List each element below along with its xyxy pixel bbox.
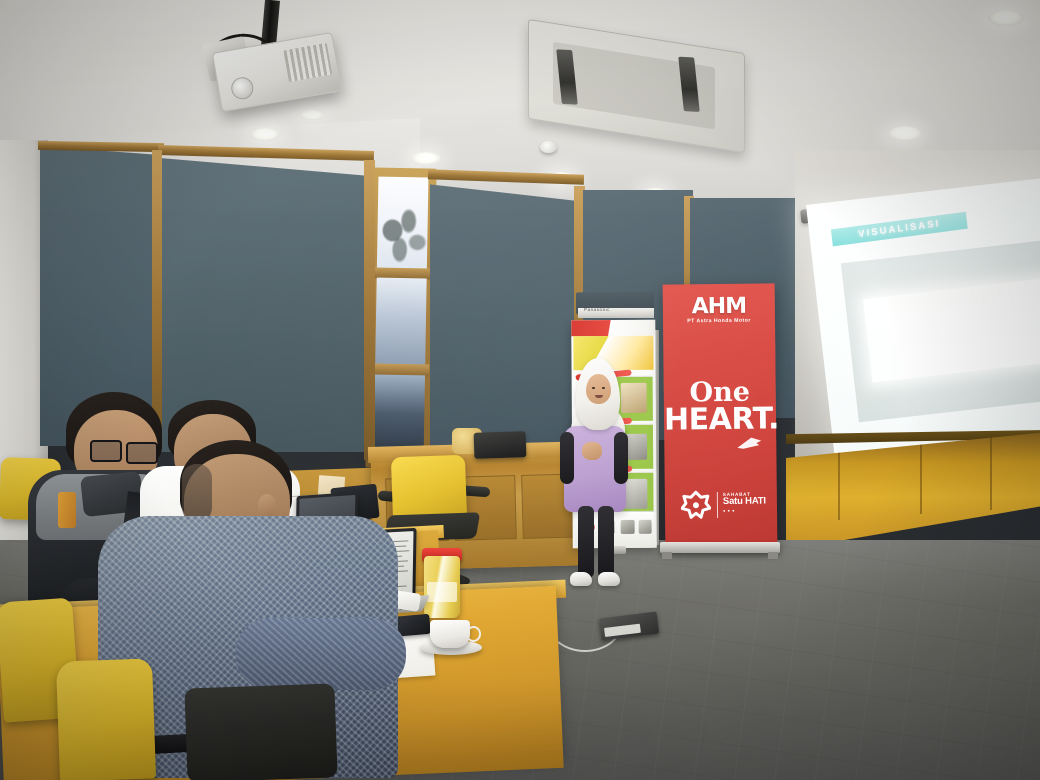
- hair-fade: [182, 464, 212, 522]
- wainscot-seam: [920, 436, 922, 514]
- wainscot-seam: [990, 432, 992, 510]
- presenter-sleeve: [560, 432, 574, 484]
- wood-trim: [364, 160, 375, 460]
- poster-header: [571, 320, 655, 337]
- banner-foot: [662, 552, 672, 559]
- poster-footer-icon: [639, 520, 652, 534]
- ceiling-downlight: [888, 126, 922, 141]
- coffee-cup: [430, 620, 470, 648]
- ceiling-downlight: [250, 128, 280, 141]
- smoke-detector: [540, 141, 557, 153]
- ahm-subtitle: PT Astra Honda Motor: [663, 317, 775, 324]
- satu-hati-text: SAHABAT Satu HATI ● ● ●: [723, 491, 775, 513]
- ceiling-downlight: [988, 10, 1024, 26]
- mouth: [595, 395, 603, 398]
- presenter-leg: [578, 506, 594, 578]
- ahm-rollup-banner: AHM PT Astra Honda Motor One HEART. SAHA…: [663, 283, 778, 546]
- presenter-hands: [582, 442, 602, 460]
- projector-vent-grill: [283, 43, 332, 82]
- presenter-sleeve: [614, 432, 628, 484]
- eye: [592, 387, 595, 389]
- satu-hati-dots: ● ● ●: [723, 507, 775, 513]
- wainscot-seam: [838, 442, 840, 520]
- presenter-face: [586, 374, 611, 404]
- banner-tagline-heart: HEART.: [664, 405, 776, 435]
- slide-content-frame: [841, 240, 1040, 423]
- eye: [602, 387, 605, 389]
- floor-socket-lid: [604, 624, 641, 637]
- slide-content-body: [863, 277, 1040, 383]
- ceiling-downlight: [300, 110, 324, 120]
- banner-foot: [768, 552, 778, 559]
- cup-handle: [466, 626, 481, 642]
- presenter-shoe: [598, 572, 620, 586]
- chair-seat[interactable]: [184, 683, 337, 780]
- snack-jar: [424, 556, 460, 618]
- projector-lens: [230, 76, 255, 101]
- window-pane-middle: [375, 278, 427, 367]
- window-pane-top: [377, 177, 429, 270]
- meeting-room-photo: VISUALISASI Panasonic: [0, 0, 1040, 780]
- presenter: [552, 358, 638, 590]
- jar-label: [427, 582, 457, 602]
- panasonic-label: Panasonic: [584, 307, 610, 312]
- bottle: [58, 492, 76, 528]
- ceiling-downlight: [411, 152, 441, 165]
- ear: [258, 494, 276, 518]
- satu-hati-logo-icon: [681, 490, 711, 520]
- honda-wing-icon: [736, 436, 762, 450]
- equipment-case: [474, 431, 527, 459]
- presenter-leg: [598, 506, 614, 578]
- window: [365, 167, 436, 468]
- banner-base: [660, 542, 780, 553]
- projection-screen: VISUALISASI: [806, 178, 1040, 465]
- ahm-wordmark: AHM: [663, 295, 775, 318]
- office-chair[interactable]: [56, 658, 156, 780]
- arm: [236, 618, 406, 690]
- presenter-shoe: [570, 572, 592, 586]
- satu-hati-title: Satu HATI: [723, 496, 775, 507]
- logo-divider: [717, 492, 718, 518]
